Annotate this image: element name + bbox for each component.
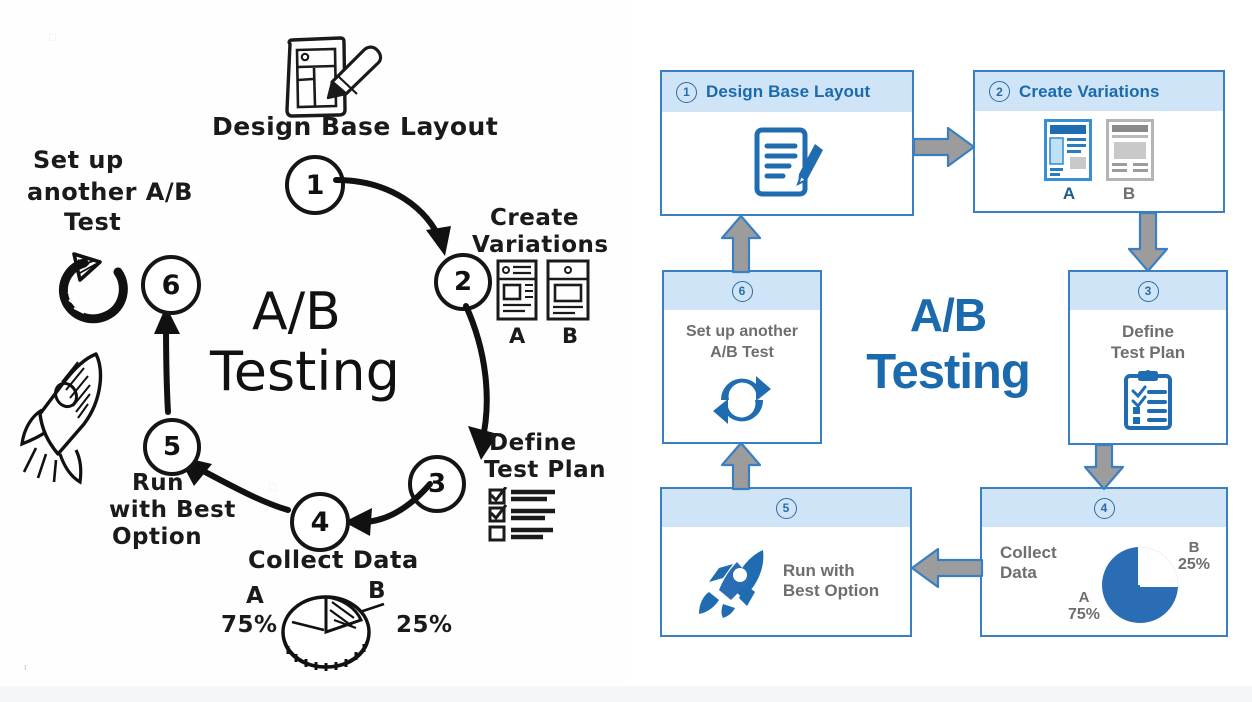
flow-box-6-line2: A/B Test — [710, 344, 774, 363]
flow-box-5-line2: Best Option — [783, 581, 879, 601]
sketch-label-step-5-line2: with Best — [109, 497, 236, 523]
sketch-label-step-2-line2: Variations — [472, 232, 609, 258]
sketch-label-step-4: Collect Data — [248, 546, 419, 574]
center-title-line1: A/B — [848, 292, 1048, 338]
flow-box-6-line1: Set up another — [686, 323, 798, 342]
arrow-2-to-3 — [1125, 211, 1171, 273]
arrow-1-to-2 — [912, 125, 976, 169]
step-number-badge-1: 1 — [676, 82, 697, 103]
sketch-label-step-5-line3: Option — [112, 524, 202, 550]
flow-box-3-line1: Define — [1122, 322, 1174, 342]
screenshot-canvas: ◻ ◻ ◻ ◻ Design Base Layout 1 — [0, 0, 1252, 702]
sketch-label-step-3-line1: Define — [489, 430, 577, 456]
flow-box-6-header: 6 — [664, 272, 820, 310]
sketch-label-step-3-line2: Test Plan — [484, 457, 606, 483]
flow-box-4[interactable]: 4 Collect Data A 75% B — [980, 487, 1228, 637]
flow-box-3-line2: Test Plan — [1111, 343, 1185, 363]
step-number-badge-4: 4 — [1094, 498, 1115, 519]
arrow-6-to-1 — [718, 214, 764, 274]
flow-box-2[interactable]: 2 Create Variations — [973, 70, 1225, 213]
flow-box-3-header: 3 — [1070, 272, 1226, 310]
flow-box-1[interactable]: 1 Design Base Layout — [660, 70, 914, 216]
flow-box-3-body: Define Test Plan — [1070, 310, 1226, 443]
sketch-pie-a-value: 75% — [221, 612, 278, 638]
sketch-arrow-3-to-4 — [338, 470, 438, 540]
pie-a-label: A — [1068, 589, 1100, 606]
variant-b-label: B — [1117, 184, 1141, 204]
sketch-label-step-1: Design Base Layout — [212, 112, 498, 141]
arrow-5-to-6 — [718, 441, 764, 491]
flow-box-6-body: Set up another A/B Test — [664, 310, 820, 442]
flow-box-5-header: 5 — [662, 489, 910, 527]
right-flow-diagram: 1 Design Base Layout 2 Create Variations — [626, 0, 1252, 684]
watermark-mark: ◻ — [48, 30, 57, 43]
rocket-icon — [693, 542, 771, 620]
layout-variant-a-icon — [1044, 119, 1092, 181]
pie-a-value: 75% — [1068, 606, 1100, 624]
pie-b-label: B — [1178, 539, 1210, 556]
sketch-label-step-6-line1: Set up — [33, 146, 124, 174]
sketch-pie-b-label: B — [368, 578, 386, 604]
flow-box-2-body: A B — [975, 111, 1223, 211]
flow-box-6[interactable]: 6 Set up another A/B Test — [662, 270, 822, 444]
refresh-cycle-icon — [56, 250, 142, 328]
center-title-line2: Testing — [848, 348, 1048, 397]
sketch-label-step-6-line3: Test — [64, 208, 121, 236]
step-number-badge-2: 2 — [989, 81, 1010, 102]
sketch-center-title-line1: A/B — [252, 282, 341, 342]
document-pencil-icon — [749, 124, 825, 202]
flow-box-1-header: 1 Design Base Layout — [662, 72, 912, 112]
refresh-cycle-icon — [711, 371, 773, 429]
step-number-badge-6: 6 — [732, 281, 753, 302]
arrow-3-to-4 — [1081, 443, 1127, 491]
rocket-icon — [18, 348, 138, 488]
variant-a-label: A — [1057, 184, 1081, 204]
pie-b-value: 25% — [1178, 556, 1210, 574]
flow-box-4-header: 4 — [982, 489, 1226, 527]
flow-box-4-body: Collect Data A 75% B 25% — [982, 527, 1226, 635]
arrow-4-to-5 — [910, 546, 984, 590]
flow-box-2-header: 2 Create Variations — [975, 72, 1223, 111]
sketch-step-number-4: 4 — [290, 492, 350, 552]
sketch-variant-b-label: B — [562, 324, 579, 348]
flow-box-5-line1: Run with — [783, 561, 879, 581]
flow-box-1-title: Design Base Layout — [706, 82, 870, 102]
flow-box-4-line2: Data — [1000, 563, 1057, 583]
pie-chart-75-25 — [1094, 537, 1186, 629]
sketch-center-title-line2: Testing — [210, 340, 400, 403]
corner-mark: ı — [24, 662, 27, 672]
flow-box-5[interactable]: 5 Run with Best Option — [660, 487, 912, 637]
step-number-badge-3: 3 — [1138, 281, 1159, 302]
bottom-band — [0, 686, 1252, 702]
step-number-badge-5: 5 — [776, 498, 797, 519]
sketch-pie-b-value: 25% — [396, 612, 453, 638]
flow-box-1-body — [662, 112, 912, 214]
layout-variant-b-icon — [1106, 119, 1154, 181]
checklist-icon — [487, 487, 559, 549]
flow-box-5-body: Run with Best Option — [662, 527, 910, 635]
flow-box-3[interactable]: 3 Define Test Plan — [1068, 270, 1228, 445]
sketch-arrow-5-to-6 — [144, 300, 194, 420]
clipboard-checklist-icon — [1122, 369, 1174, 431]
sketch-label-step-6-line2: another A/B — [27, 178, 193, 206]
flow-box-2-title: Create Variations — [1019, 82, 1160, 102]
sketch-pie-a-label: A — [246, 583, 264, 609]
sketch-label-step-2-line1: Create — [490, 205, 579, 231]
sketch-step-number-6: 6 — [141, 255, 201, 315]
sketch-step-number-5: 5 — [143, 418, 201, 476]
flow-box-4-line1: Collect — [1000, 543, 1057, 563]
sketch-label-step-5-line1: Run — [132, 470, 184, 496]
left-handdrawn-diagram: ◻ ◻ ◻ ◻ Design Base Layout 1 — [0, 0, 626, 684]
